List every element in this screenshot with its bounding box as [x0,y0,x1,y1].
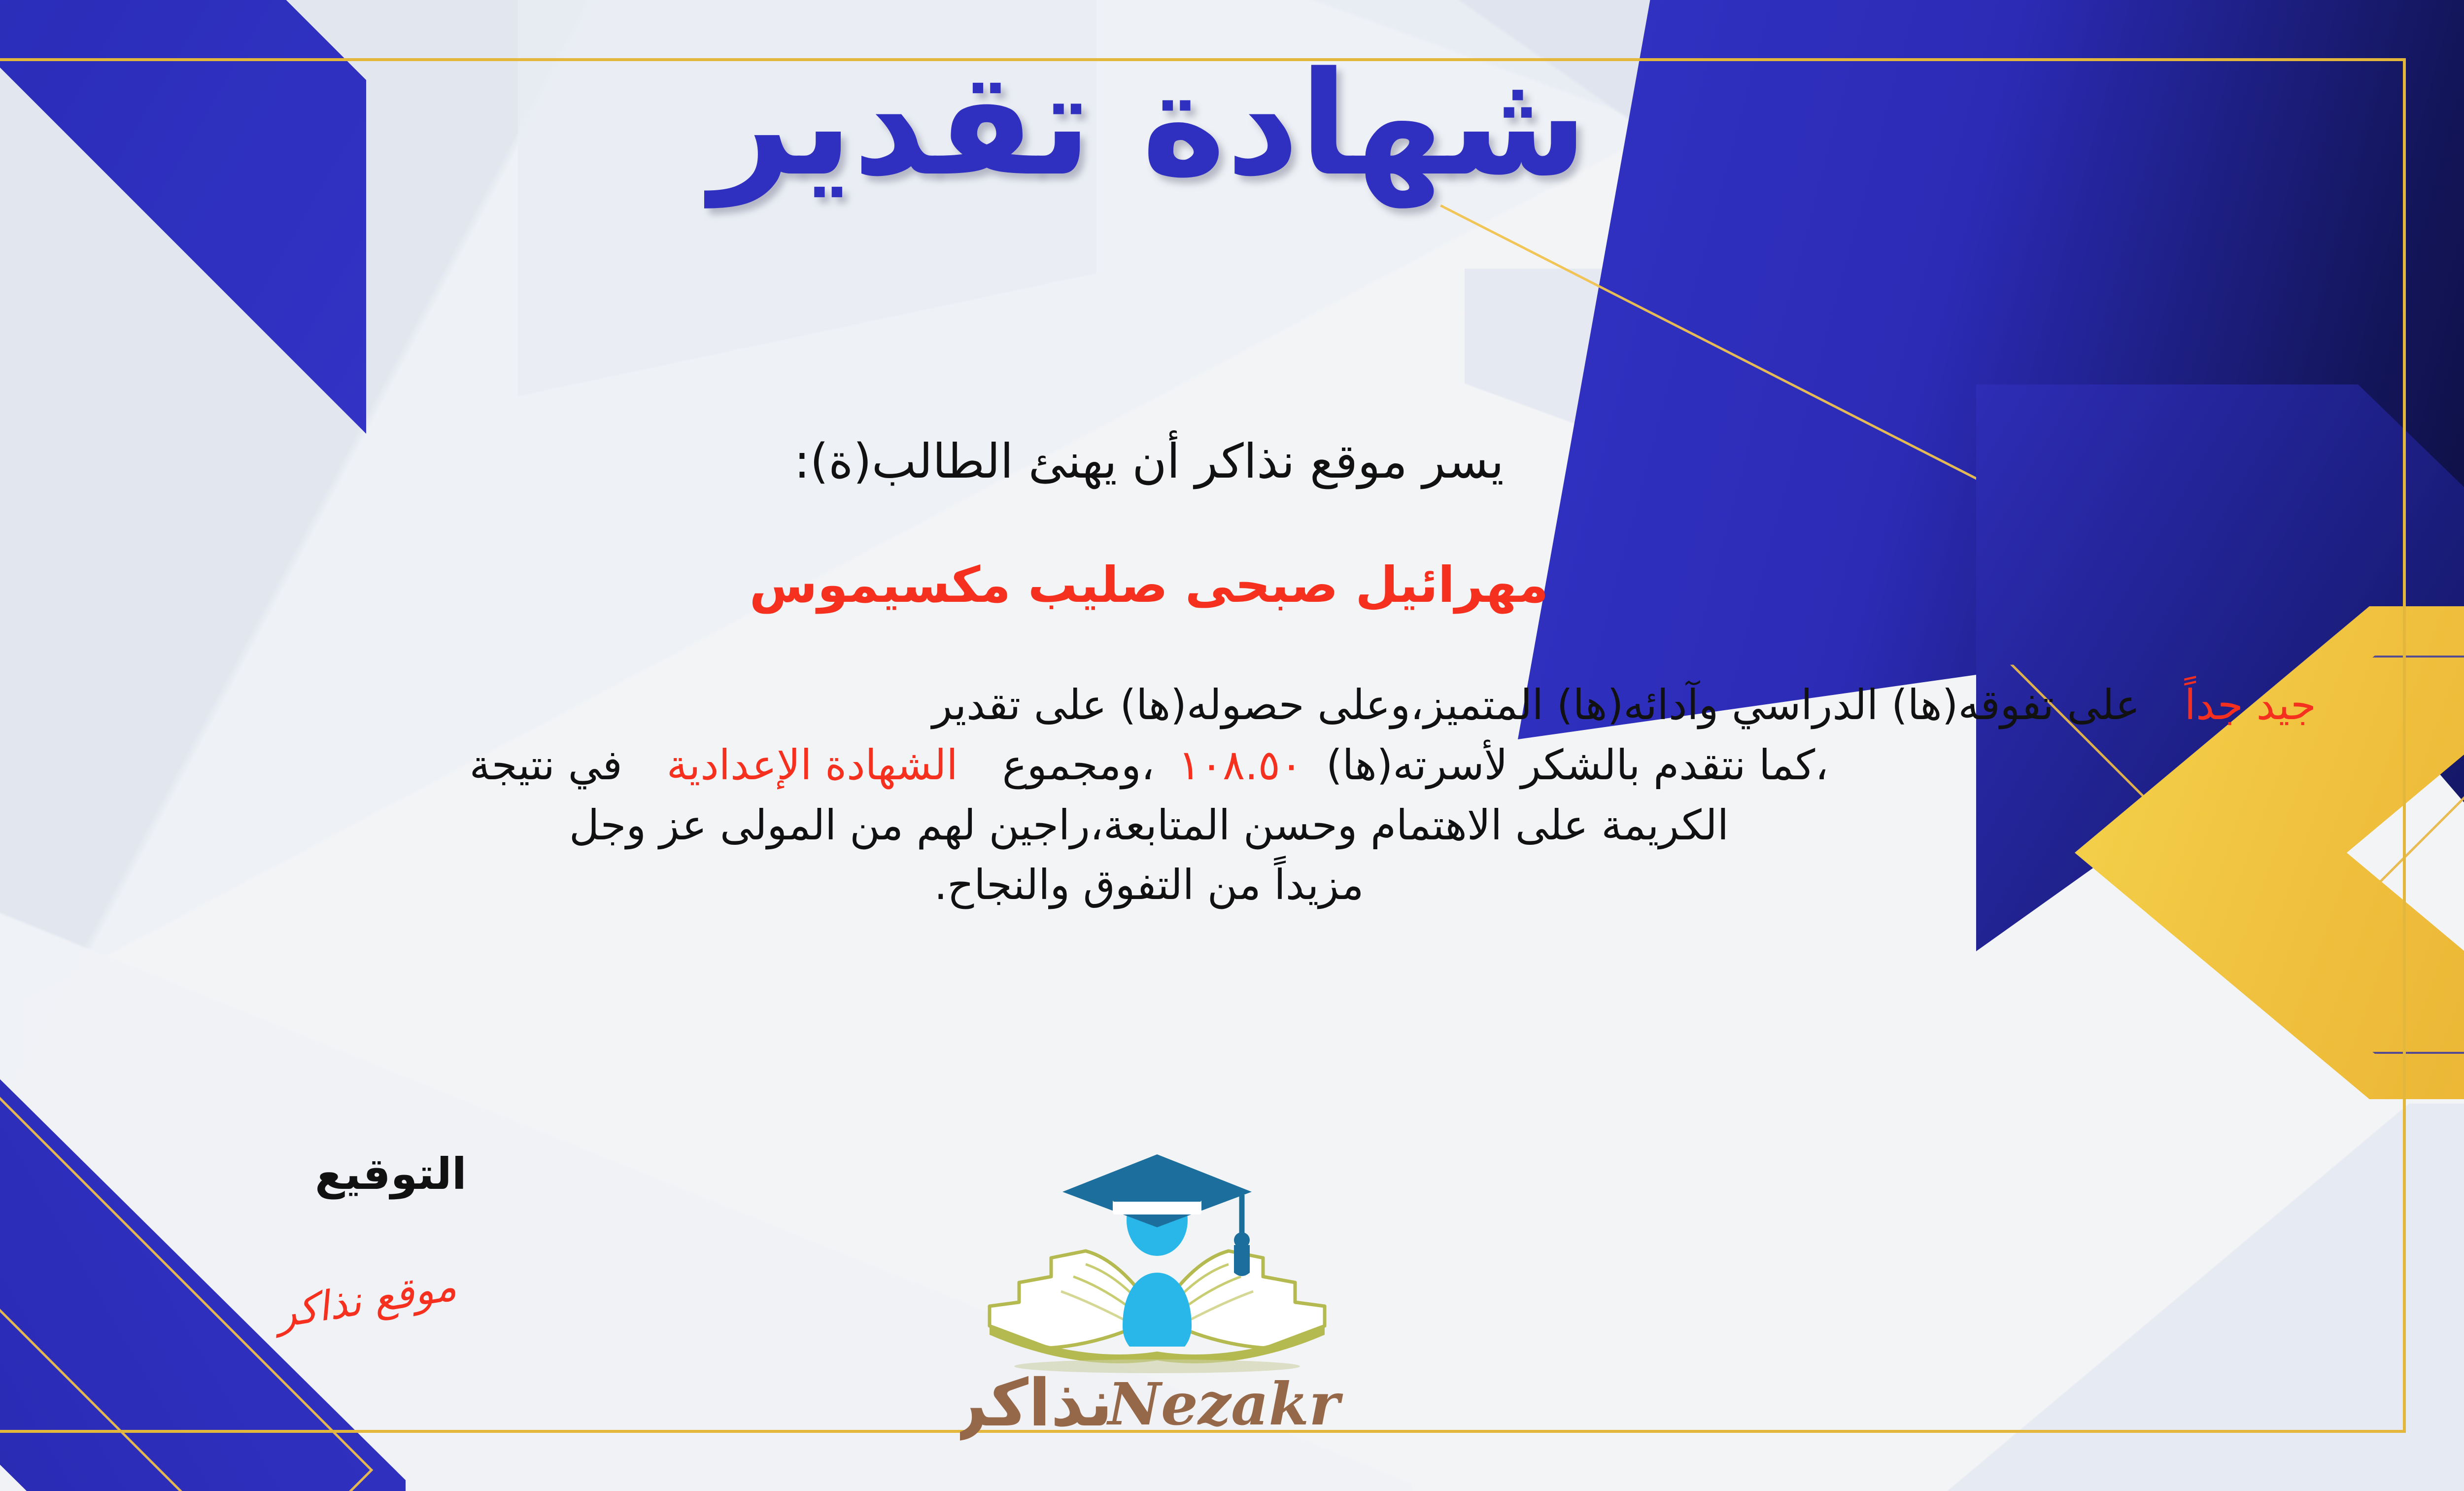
signature-script: موقع نذاكر [226,1255,506,1345]
certificate-canvas: شهادة تقدير يسر موقع نذاكر أن يهنئ الطال… [0,0,2464,1491]
grade-value: جيد جداً [2185,681,2316,729]
body-line-2-head: في نتيجة [470,741,622,789]
total-score-value: ١٠٨.٥٠ [1178,741,1302,789]
body-line-1-text: على تفوقه(ها) الدراسي وآدائه(ها) المتميز… [932,681,2140,729]
exam-name-value: الشهادة الإعدادية [667,741,958,789]
brand-logo: Nezakr نذاكر [960,1129,1354,1444]
page-title: شهادة تقدير [0,53,2464,196]
congratulation-lead-text: يسر موقع نذاكر أن يهنئ الطالب(ة): [0,434,2464,489]
signature-label: التوقيع [268,1148,514,1199]
certificate-content: شهادة تقدير يسر موقع نذاكر أن يهنئ الطال… [0,0,2464,1491]
student-name: مهرائيل صبحى صليب مكسيموس [0,556,2464,614]
body-line-2: ،كما نتقدم بالشكر لأسرته(ها)١٠٨.٥٠،ومجمو… [0,735,2316,796]
body-line-4: مزيداً من التفوق والنجاح. [0,855,2316,915]
certificate-body-paragraph: جيد جداًعلى تفوقه(ها) الدراسي وآدائه(ها)… [0,675,2316,915]
body-line-3: الكريمة على الاهتمام وحسن المتابعة،راجين… [0,796,2316,856]
body-line-2-mid: ،ومجموع [1002,741,1155,789]
body-line-2-tail: ،كما نتقدم بالشكر لأسرته(ها) [1326,741,1828,789]
body-line-1: جيد جداًعلى تفوقه(ها) الدراسي وآدائه(ها)… [0,675,2316,735]
logo-latin-text: Nezakr [1106,1370,1343,1438]
logo-arabic-text: نذاكر [960,1365,1113,1441]
